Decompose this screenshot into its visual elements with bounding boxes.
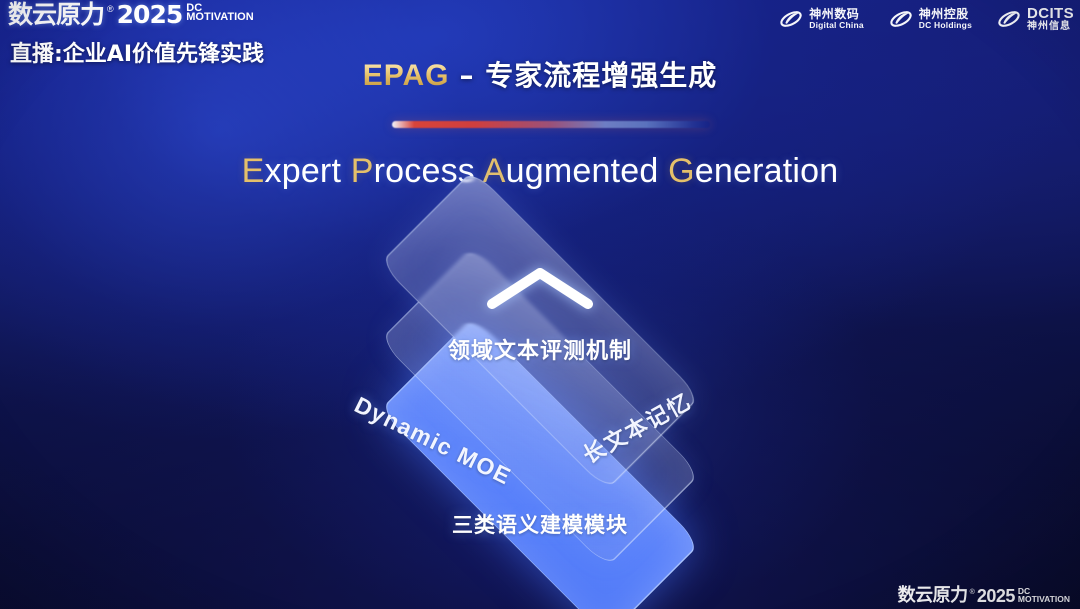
slide-canvas: 数云原力 ® 2025 DC MOTIVATION 直播:企业AI价值先锋实践 xyxy=(0,0,1080,609)
watermark-registered-mark: ® xyxy=(970,589,975,596)
stack-layer-middle-label-right: 长文本记忆 xyxy=(576,355,749,470)
brand-name-cn: 数云原力 xyxy=(8,2,104,27)
subtitle-segment-5: ugmented xyxy=(506,152,668,190)
footer-watermark: 数云原力 ® 2025 DC MOTIVATION xyxy=(898,587,1070,605)
accent-gradient-bar xyxy=(392,121,710,128)
partner-logo-dcits: DCITS 神州信息 xyxy=(996,6,1074,32)
stack-layer-middle-label-left: Dynamic MOE xyxy=(350,391,542,503)
brand-motivation-label: MOTIVATION xyxy=(186,12,253,23)
partner-name-en: DCITS xyxy=(1027,6,1074,22)
stack-layer-top-label: 领域文本评测机制 xyxy=(0,333,1080,365)
brand-dc-motivation: DC MOTIVATION xyxy=(186,3,253,23)
subtitle-segment-6: G xyxy=(668,152,695,190)
background-glow-center xyxy=(230,200,870,609)
chevron-up-icon xyxy=(486,266,594,310)
swirl-logo-icon xyxy=(996,6,1022,32)
title-acronym: EPAG xyxy=(363,59,450,92)
partner-logo-digital-china: 神州数码 Digital China xyxy=(778,6,864,32)
brand-year: 2025 xyxy=(117,2,183,27)
partner-logo-text: 神州数码 Digital China xyxy=(809,8,864,30)
watermark-year: 2025 xyxy=(977,587,1015,605)
brand-lockup: 数云原力 ® 2025 DC MOTIVATION xyxy=(8,2,338,27)
partner-name-en: Digital China xyxy=(809,21,864,30)
partner-name-cn: 神州信息 xyxy=(1027,22,1074,33)
partner-name-en: DC Holdings xyxy=(919,21,972,30)
partner-logo-text: DCITS 神州信息 xyxy=(1027,6,1074,32)
subtitle-segment-4: A xyxy=(483,152,506,190)
swirl-logo-icon xyxy=(888,6,914,32)
subtitle-segment-0: E xyxy=(242,152,265,190)
title-chinese: – 专家流程增强生成 xyxy=(460,59,718,92)
subtitle-segment-2: P xyxy=(351,152,374,190)
watermark-motivation-label: MOTIVATION xyxy=(1018,595,1070,604)
subtitle-segment-3: rocess xyxy=(374,152,483,190)
page-subtitle: Expert Process Augmented Generation xyxy=(0,152,1080,191)
subtitle-segment-7: eneration xyxy=(695,152,839,190)
stack-layer-bottom-label: 三类语义建模模块 xyxy=(0,509,1080,539)
partner-logo-bar: 神州数码 Digital China 神州控股 DC Holdings xyxy=(778,6,1074,32)
subtitle-segment-1: xpert xyxy=(265,152,351,190)
partner-logo-dc-holdings: 神州控股 DC Holdings xyxy=(888,6,972,32)
watermark-dc-motivation: DC MOTIVATION xyxy=(1018,587,1070,603)
watermark-name-cn: 数云原力 xyxy=(898,587,968,605)
page-title: EPAG– 专家流程增强生成 xyxy=(0,54,1080,94)
partner-logo-text: 神州控股 DC Holdings xyxy=(919,8,972,30)
swirl-logo-icon xyxy=(778,6,804,32)
brand-registered-mark: ® xyxy=(107,5,114,14)
